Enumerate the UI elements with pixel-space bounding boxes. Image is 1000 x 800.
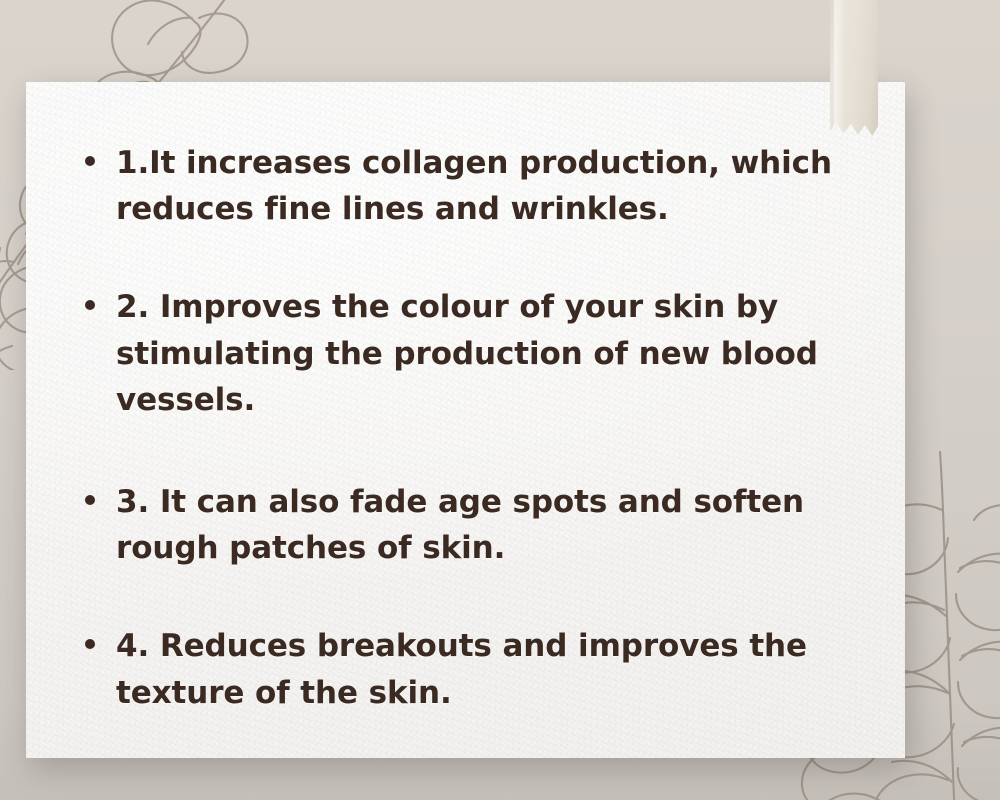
bullet-dot-icon bbox=[85, 300, 95, 310]
list-item-text: 1.It increases collagen production, whic… bbox=[116, 145, 832, 227]
bullet-dot-icon bbox=[85, 639, 95, 649]
benefits-bullet-list: 1.It increases collagen production, whic… bbox=[26, 82, 905, 716]
list-item: 2. Improves the colour of your skin by s… bbox=[84, 284, 885, 423]
list-item-text: 2. Improves the colour of your skin by s… bbox=[116, 289, 818, 417]
list-item: 4. Reduces breakouts and improves the te… bbox=[84, 623, 885, 715]
bullet-dot-icon bbox=[85, 156, 95, 166]
list-item-text: 4. Reduces breakouts and improves the te… bbox=[116, 628, 807, 710]
slide-canvas: 1.It increases collagen production, whic… bbox=[0, 0, 1000, 800]
list-item: 3. It can also fade age spots and soften… bbox=[84, 479, 885, 571]
card-content: 1.It increases collagen production, whic… bbox=[26, 82, 905, 758]
bullet-dot-icon bbox=[85, 495, 95, 505]
list-item-text: 3. It can also fade age spots and soften… bbox=[116, 484, 804, 566]
list-item: 1.It increases collagen production, whic… bbox=[84, 140, 885, 232]
